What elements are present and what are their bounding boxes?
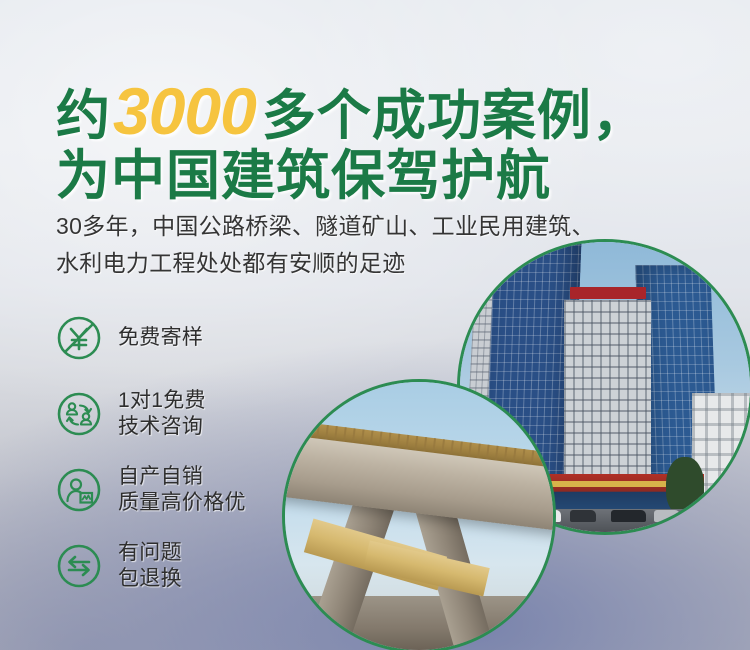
feature-label-line-1: 1对1免费 (118, 388, 206, 414)
bridge-photo (285, 382, 553, 650)
two-people-exchange-icon (56, 391, 102, 437)
feature-list: 免费寄样 1对1免费 技术咨询 (56, 300, 306, 604)
swap-arrows-icon (56, 543, 102, 589)
feature-item-consulting[interactable]: 1对1免费 技术咨询 (56, 376, 306, 452)
feature-label-line-2: 包退换 (118, 566, 182, 592)
feature-label-line-1: 自产自销 (118, 464, 246, 490)
promo-banner: 约3000多个成功案例， 为中国建筑保驾护航 30多年，中国公路桥梁、隧道矿山、… (0, 0, 750, 650)
subheading: 30多年，中国公路桥梁、隧道矿山、工业民用建筑、 水利电力工程处处都有安顺的足迹 (56, 208, 595, 283)
headline-suffix: 多个成功案例， (262, 86, 647, 146)
car (570, 510, 596, 522)
feature-label: 自产自销 质量高价格优 (118, 464, 246, 517)
feature-label-line-2: 质量高价格优 (118, 490, 246, 516)
subheading-line-1: 30多年，中国公路桥梁、隧道矿山、工业民用建筑、 (56, 208, 595, 245)
feature-label-line-2: 技术咨询 (118, 414, 206, 440)
person-chart-icon (56, 467, 102, 513)
headline-line-2: 为中国建筑保驾护航 (56, 145, 647, 209)
car (611, 510, 646, 522)
headline-number: 3000 (111, 74, 262, 148)
feature-label: 1对1免费 技术咨询 (118, 388, 206, 441)
podium-gold-letters (533, 481, 678, 487)
car (654, 510, 680, 522)
bridge-photo-scene (285, 382, 553, 650)
feature-label: 免费寄样 (118, 325, 203, 351)
rooftop-sign (570, 287, 645, 299)
headline-prefix: 约 (56, 86, 111, 146)
feature-label-line-1: 免费寄样 (118, 326, 203, 349)
tree (666, 457, 704, 515)
subheading-line-2: 水利电力工程处处都有安顺的足迹 (56, 245, 595, 282)
feature-item-return-exchange[interactable]: 有问题 包退换 (56, 528, 306, 604)
headline: 约3000多个成功案例， 为中国建筑保驾护航 (56, 78, 647, 209)
feature-label: 有问题 包退换 (118, 540, 182, 593)
headline-line-1: 约3000多个成功案例， (56, 78, 647, 145)
feature-item-free-sample[interactable]: 免费寄样 (56, 300, 306, 376)
feature-label-line-1: 有问题 (118, 540, 182, 566)
feature-item-self-production[interactable]: 自产自销 质量高价格优 (56, 452, 306, 528)
yen-no-charge-icon (56, 315, 102, 361)
